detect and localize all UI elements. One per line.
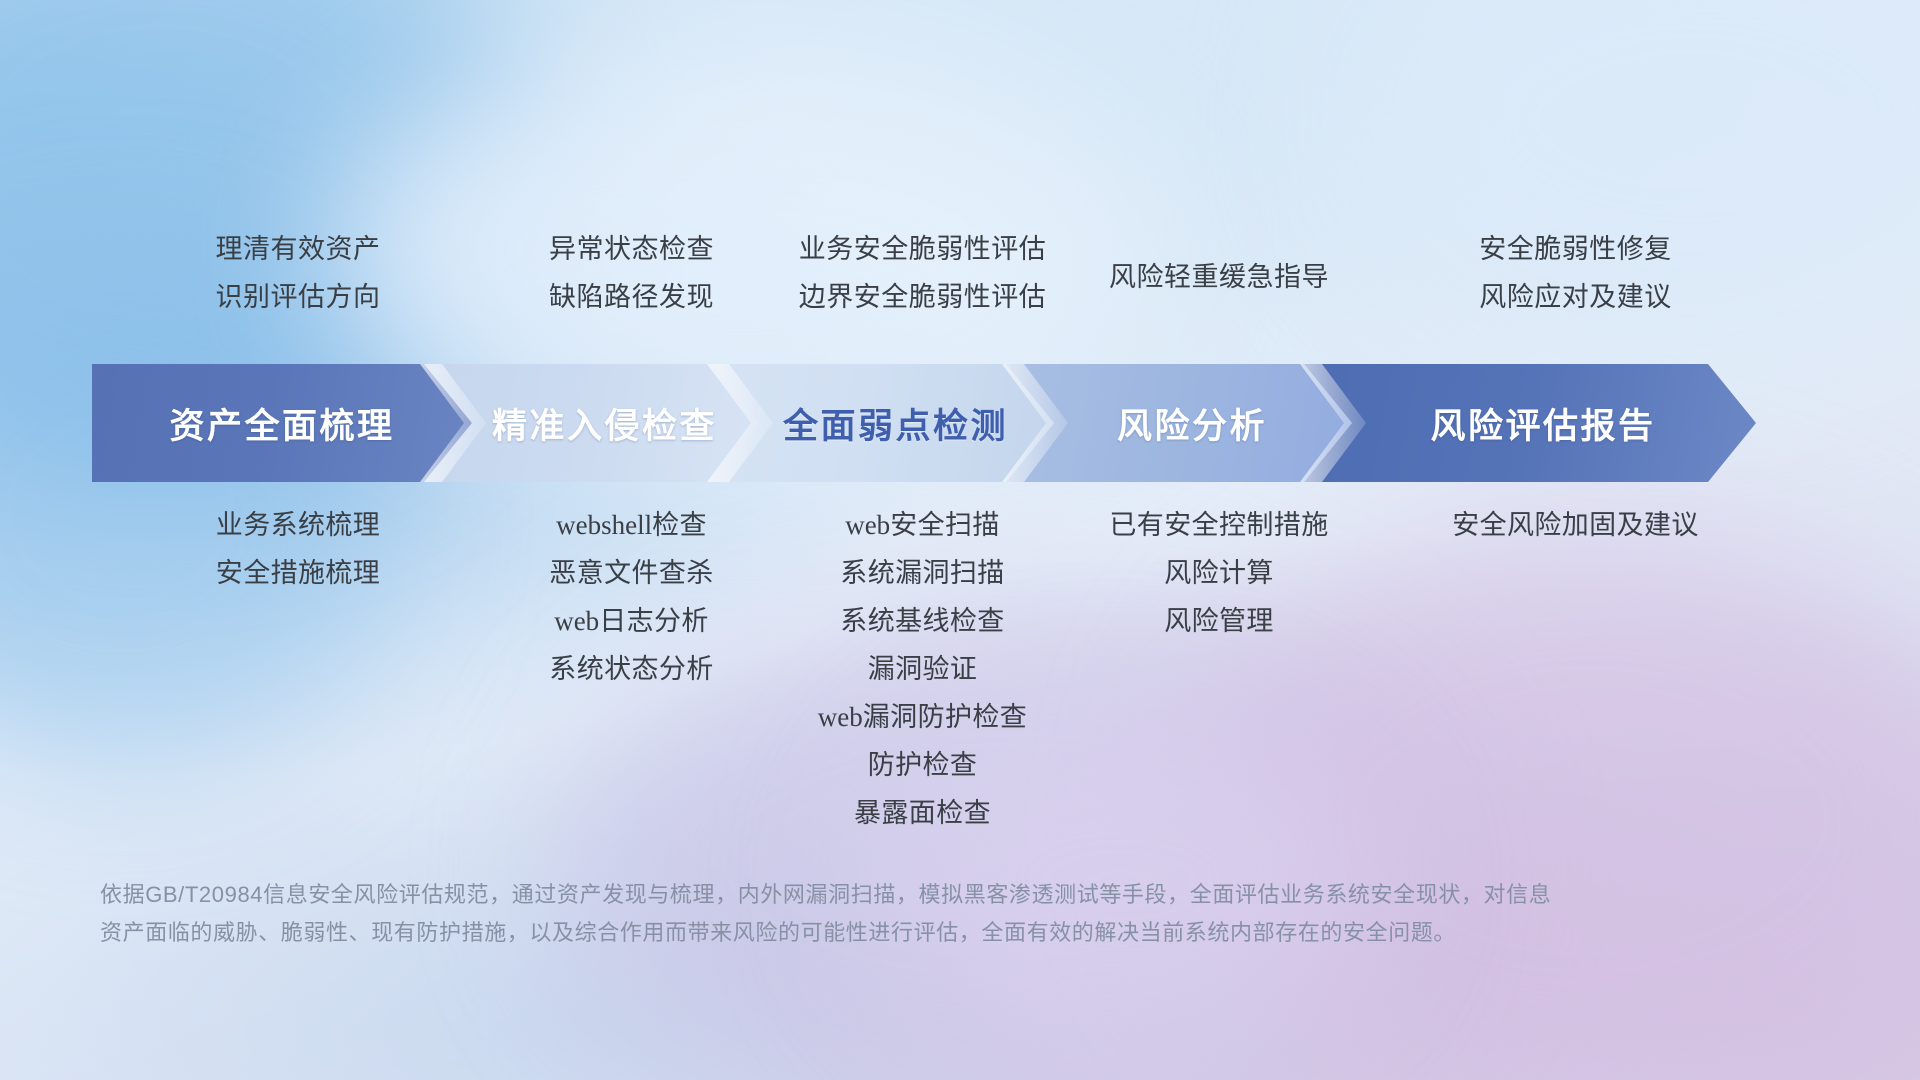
chevron-label: 精准入侵检查 [492, 398, 717, 449]
footer-description: 依据GB/T20984信息安全风险评估规范，通过资产发现与梳理，内外网漏洞扫描，… [100, 876, 1620, 952]
list-item: 风险计算 [1070, 560, 1368, 587]
list-item: 系统漏洞扫描 [775, 560, 1070, 587]
chevron-stage-risk-report[interactable]: 风险评估报告 [1304, 364, 1756, 482]
chevron-stage-intrusion-check[interactable]: 精准入侵检查 [424, 364, 759, 482]
footer-line-2: 资产面临的威胁、脆弱性、现有防护措施，以及综合作用而带来风险的可能性进行评估，全… [100, 914, 1620, 952]
chevron-stage-weakness-detection[interactable]: 全面弱点检测 [711, 364, 1054, 482]
list-item: webshell检查 [488, 512, 775, 539]
list-item: web安全扫描 [775, 512, 1070, 539]
top-captions-risk-report: 安全脆弱性修复 风险应对及建议 [1368, 228, 1783, 319]
bottom-list-weakness-detection: web安全扫描 系统漏洞扫描 系统基线检查 漏洞验证 web漏洞防护检查 防护检… [775, 512, 1070, 848]
list-item: 恶意文件查杀 [488, 560, 775, 587]
top-caption: 识别评估方向 [108, 276, 488, 320]
chevron-label: 风险分析 [1117, 398, 1267, 449]
bottom-list-risk-analysis: 已有安全控制措施 风险计算 风险管理 [1070, 512, 1368, 656]
list-item: 系统基线检查 [775, 608, 1070, 635]
top-caption-row: 理清有效资产 识别评估方向 异常状态检查 缺陷路径发现 业务安全脆弱性评估 边界… [0, 228, 1920, 319]
process-chevron-band: 资产全面梳理 精准入侵检查 全面弱点检测 风险分析 风险评估报告 [92, 364, 1852, 482]
list-item: 漏洞验证 [775, 656, 1070, 683]
bottom-list-row: 业务系统梳理 安全措施梳理 webshell检查 恶意文件查杀 web日志分析 … [0, 512, 1920, 848]
list-item: 业务系统梳理 [108, 512, 488, 539]
list-item: 风险管理 [1070, 608, 1368, 635]
top-caption: 安全脆弱性修复 [1368, 228, 1783, 272]
chevron-stage-asset-inventory[interactable]: 资产全面梳理 [92, 364, 472, 482]
top-captions-risk-analysis: 风险轻重缓急指导 [1070, 228, 1368, 300]
list-item: 系统状态分析 [488, 656, 775, 683]
chevron-stage-risk-analysis[interactable]: 风险分析 [1006, 364, 1352, 482]
top-caption: 边界安全脆弱性评估 [775, 276, 1070, 320]
top-caption: 缺陷路径发现 [488, 276, 775, 320]
list-item: web漏洞防护检查 [775, 704, 1070, 731]
list-item: web日志分析 [488, 608, 775, 635]
top-caption: 理清有效资产 [108, 228, 488, 272]
bottom-list-risk-report: 安全风险加固及建议 [1368, 512, 1783, 560]
footer-line-1: 依据GB/T20984信息安全风险评估规范，通过资产发现与梳理，内外网漏洞扫描，… [100, 876, 1620, 914]
chevron-label: 风险评估报告 [1430, 398, 1655, 449]
top-caption: 风险应对及建议 [1368, 276, 1783, 320]
list-item: 安全措施梳理 [108, 560, 488, 587]
list-item: 安全风险加固及建议 [1368, 512, 1783, 539]
bottom-list-intrusion-check: webshell检查 恶意文件查杀 web日志分析 系统状态分析 [488, 512, 775, 704]
chevron-label: 资产全面梳理 [169, 398, 394, 449]
top-caption: 异常状态检查 [488, 228, 775, 272]
top-captions-weakness-detection: 业务安全脆弱性评估 边界安全脆弱性评估 [775, 228, 1070, 319]
top-captions-intrusion-check: 异常状态检查 缺陷路径发现 [488, 228, 775, 319]
list-item: 防护检查 [775, 752, 1070, 779]
bottom-list-asset-inventory: 业务系统梳理 安全措施梳理 [108, 512, 488, 608]
top-caption: 业务安全脆弱性评估 [775, 228, 1070, 272]
slide-canvas: 理清有效资产 识别评估方向 异常状态检查 缺陷路径发现 业务安全脆弱性评估 边界… [0, 0, 1920, 1080]
top-caption: 风险轻重缓急指导 [1070, 256, 1368, 300]
list-item: 已有安全控制措施 [1070, 512, 1368, 539]
list-item: 暴露面检查 [775, 800, 1070, 827]
top-captions-asset-inventory: 理清有效资产 识别评估方向 [108, 228, 488, 319]
chevron-label: 全面弱点检测 [783, 398, 1008, 449]
